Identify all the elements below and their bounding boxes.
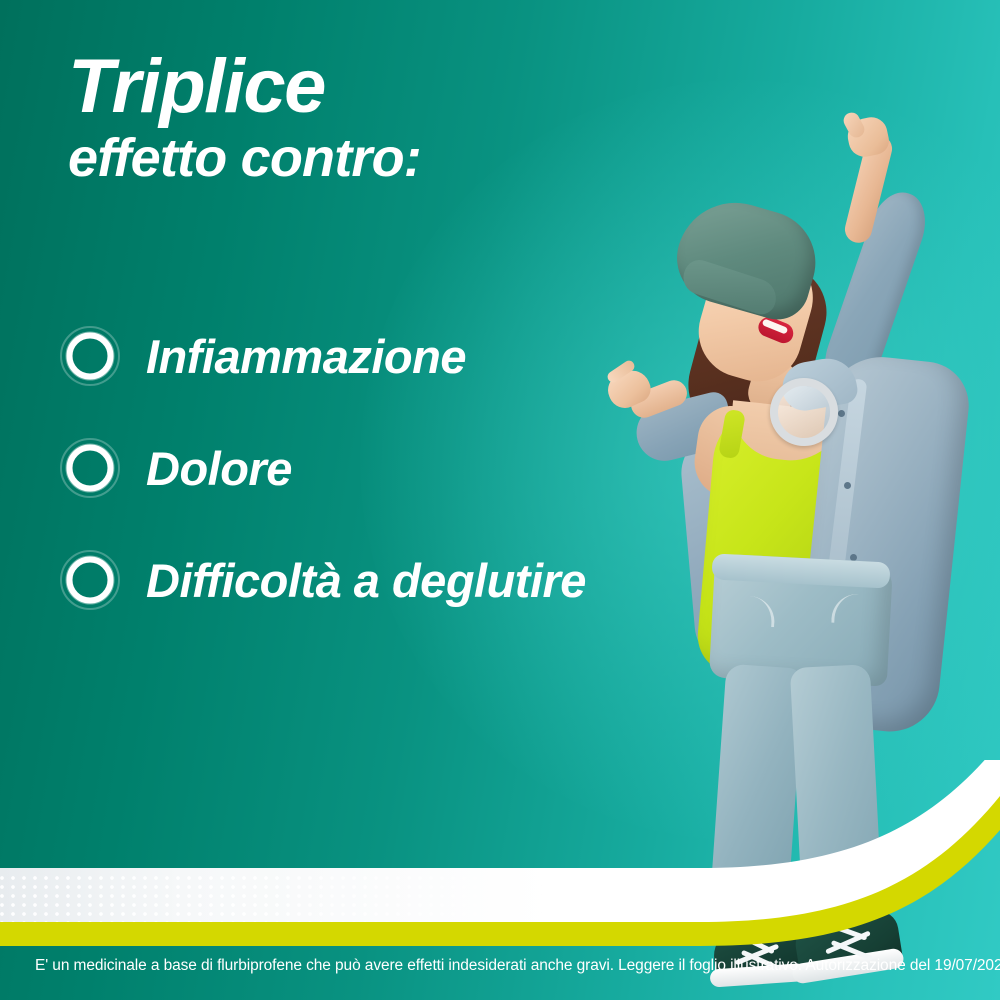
benefit-item: Difficoltà a deglutire bbox=[62, 524, 702, 636]
ring-inner bbox=[67, 557, 114, 604]
disclaimer-text: E' un medicinale a base di flurbiprofene… bbox=[35, 956, 976, 975]
white-band bbox=[0, 760, 1000, 922]
benefit-label: Dolore bbox=[146, 441, 292, 496]
benefit-item: Infiammazione bbox=[62, 300, 702, 412]
shirt-button bbox=[844, 482, 851, 489]
benefit-label: Difficoltà a deglutire bbox=[146, 553, 586, 608]
target-ring-icon bbox=[62, 440, 118, 496]
target-ring-icon bbox=[62, 328, 118, 384]
target-ring-icon bbox=[62, 552, 118, 608]
benefits-list: Infiammazione Dolore Difficoltà a deglut… bbox=[62, 300, 702, 636]
ring-inner bbox=[67, 333, 114, 380]
shirt-button bbox=[838, 410, 845, 417]
headline: Triplice effetto contro: bbox=[68, 50, 421, 189]
headline-line-2: effetto contro: bbox=[68, 128, 421, 188]
ring-inner bbox=[67, 445, 114, 492]
benefit-item: Dolore bbox=[62, 412, 702, 524]
benefit-label: Infiammazione bbox=[146, 329, 466, 384]
advertisement-banner: Triplice effetto contro: Infiammazione D… bbox=[0, 0, 1000, 1000]
headline-line-1: Triplice bbox=[68, 50, 421, 124]
